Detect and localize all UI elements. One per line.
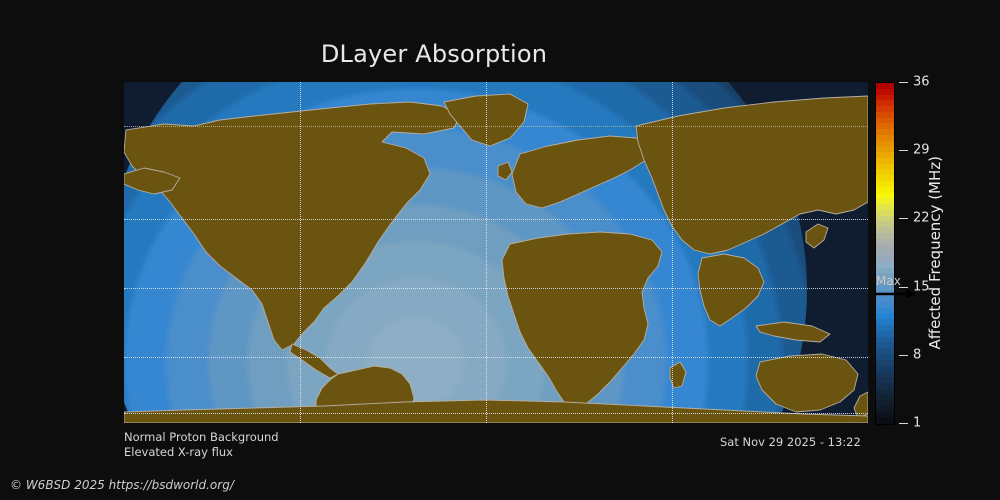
colorbar-tick-mark <box>899 423 908 424</box>
colorbar-max-label: Max <box>876 275 901 287</box>
colorbar-max-marker: Max <box>876 275 924 301</box>
copyright-link[interactable]: © W6BSD 2025 https://bsdworld.org/ <box>10 478 234 492</box>
colorbar-tick-mark <box>899 82 908 83</box>
colorbar-axis-label-text: Affected Frequency (MHz) <box>926 156 944 350</box>
timestamp: Sat Nov 29 2025 - 13:22 <box>720 435 861 449</box>
colorbar-tick-mark <box>899 355 908 356</box>
screenshot-root: DLayer Absorption <box>0 0 1000 500</box>
status-note-proton: Normal Proton Background <box>124 430 279 444</box>
colorbar[interactable] <box>875 82 895 425</box>
colorbar-tick-mark <box>899 218 908 219</box>
colorbar-axis-label: Affected Frequency (MHz) <box>924 82 946 423</box>
colorbar-tick-label: 1 <box>913 416 921 431</box>
arrow-right-icon <box>876 289 916 299</box>
status-note-xray: Elevated X-ray flux <box>124 445 233 459</box>
colorbar-tick-label: 8 <box>913 348 921 363</box>
colorbar-band <box>876 417 894 423</box>
world-map[interactable] <box>124 82 868 423</box>
map-canvas <box>124 82 868 423</box>
colorbar-tick-mark <box>899 150 908 151</box>
page-title: DLayer Absorption <box>0 40 868 68</box>
